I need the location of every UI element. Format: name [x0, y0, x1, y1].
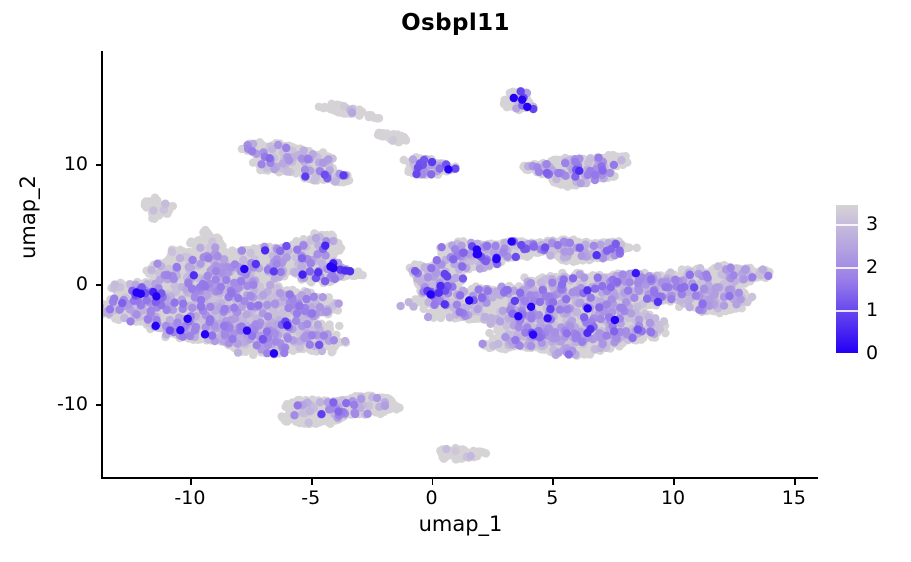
colorbar-tick-label: 3	[866, 213, 878, 235]
x-tick-mark	[673, 479, 675, 485]
colorbar-gradient	[836, 205, 858, 353]
y-tick-mark	[96, 164, 102, 166]
y-tick-label: 10	[0, 153, 88, 175]
colorbar-tick-mark	[836, 267, 858, 269]
scatter-points-layer	[103, 52, 818, 478]
plot-area	[103, 52, 818, 478]
colorbar-tick-mark	[836, 353, 858, 355]
x-tick-mark	[794, 479, 796, 485]
colorbar-tick-label: 0	[866, 342, 878, 364]
page-title: Osbpl11	[0, 10, 911, 36]
figure-canvas: Osbpl11 -10-5051015 100-10 umap_1 umap_2…	[0, 0, 911, 562]
y-tick-label: 0	[0, 273, 88, 295]
colorbar-tick-mark	[836, 310, 858, 312]
y-tick-mark	[96, 284, 102, 286]
x-tick-label: -10	[174, 487, 205, 509]
x-tick-label: 5	[546, 487, 558, 509]
x-axis-label: umap_1	[103, 512, 818, 536]
x-tick-label: -5	[301, 487, 320, 509]
x-tick-mark	[552, 479, 554, 485]
colorbar-tick-mark	[836, 224, 858, 226]
x-tick-label: 15	[782, 487, 806, 509]
y-tick-label: -10	[0, 393, 88, 415]
x-tick-label: 10	[661, 487, 685, 509]
x-tick-mark	[311, 479, 313, 485]
x-tick-label: 0	[425, 487, 437, 509]
colorbar: 0123	[836, 205, 911, 353]
y-tick-mark	[96, 404, 102, 406]
x-tick-mark	[432, 479, 434, 485]
y-axis-label: umap_2	[16, 127, 40, 307]
colorbar-tick-label: 1	[866, 299, 878, 321]
x-tick-mark	[190, 479, 192, 485]
colorbar-tick-label: 2	[866, 256, 878, 278]
